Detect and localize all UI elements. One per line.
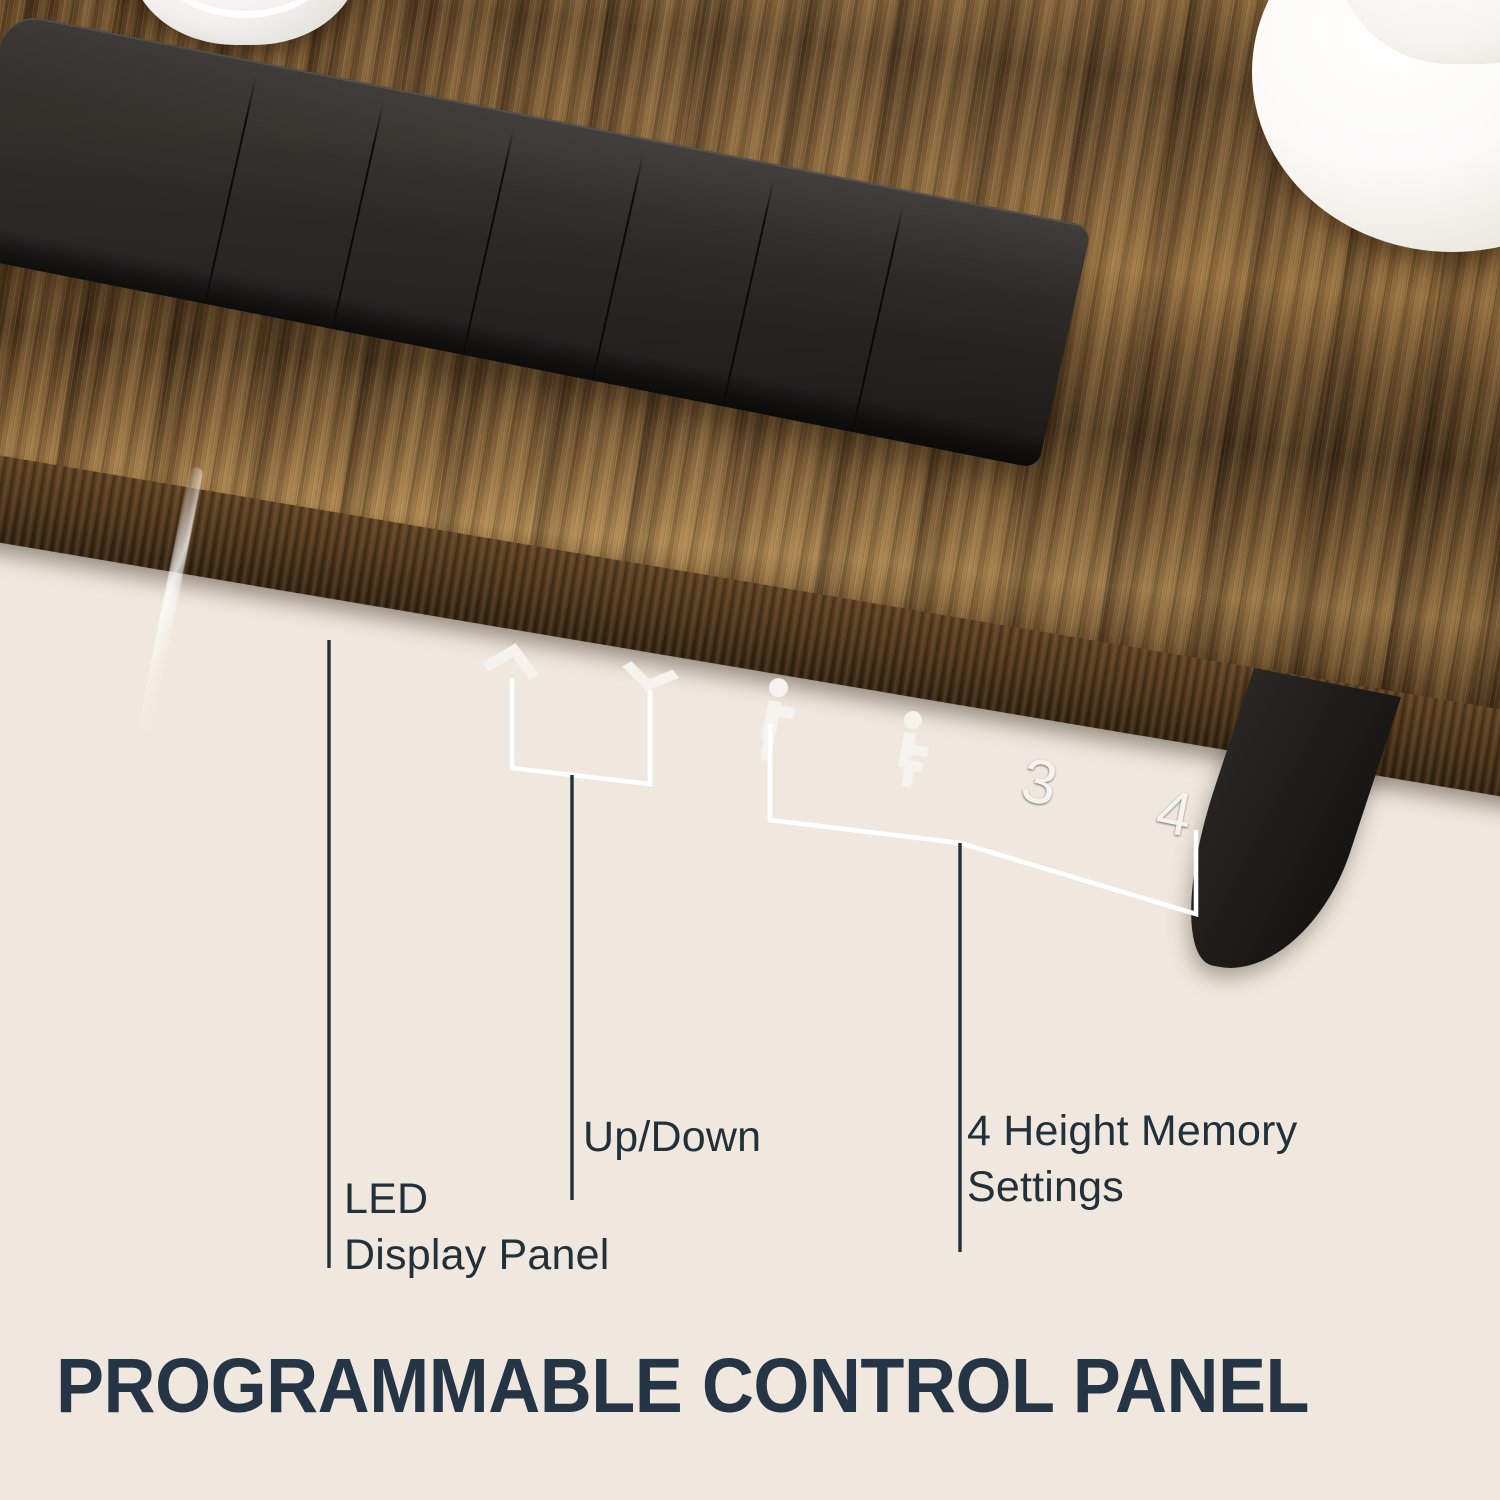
chevron-up-icon[interactable]: [477, 630, 550, 682]
headline: PROGRAMMABLE CONTROL PANEL: [56, 1342, 1309, 1431]
callout-label-up-down: Up/Down: [583, 1110, 761, 1166]
chevron-down-icon[interactable]: [612, 659, 685, 711]
callout-label-memory: 4 Height Memory Settings: [967, 1104, 1297, 1216]
memory-4-button-label[interactable]: 4: [1151, 780, 1197, 848]
memory-3-button-label[interactable]: 3: [1016, 749, 1062, 817]
product-feature-image: 3 4 LED Display Panel Up/Down 4 Height M…: [0, 0, 1500, 1500]
callout-label-led-display: LED Display Panel: [344, 1172, 610, 1284]
sitting-person-icon[interactable]: [887, 708, 944, 795]
standing-person-icon[interactable]: [749, 675, 805, 767]
